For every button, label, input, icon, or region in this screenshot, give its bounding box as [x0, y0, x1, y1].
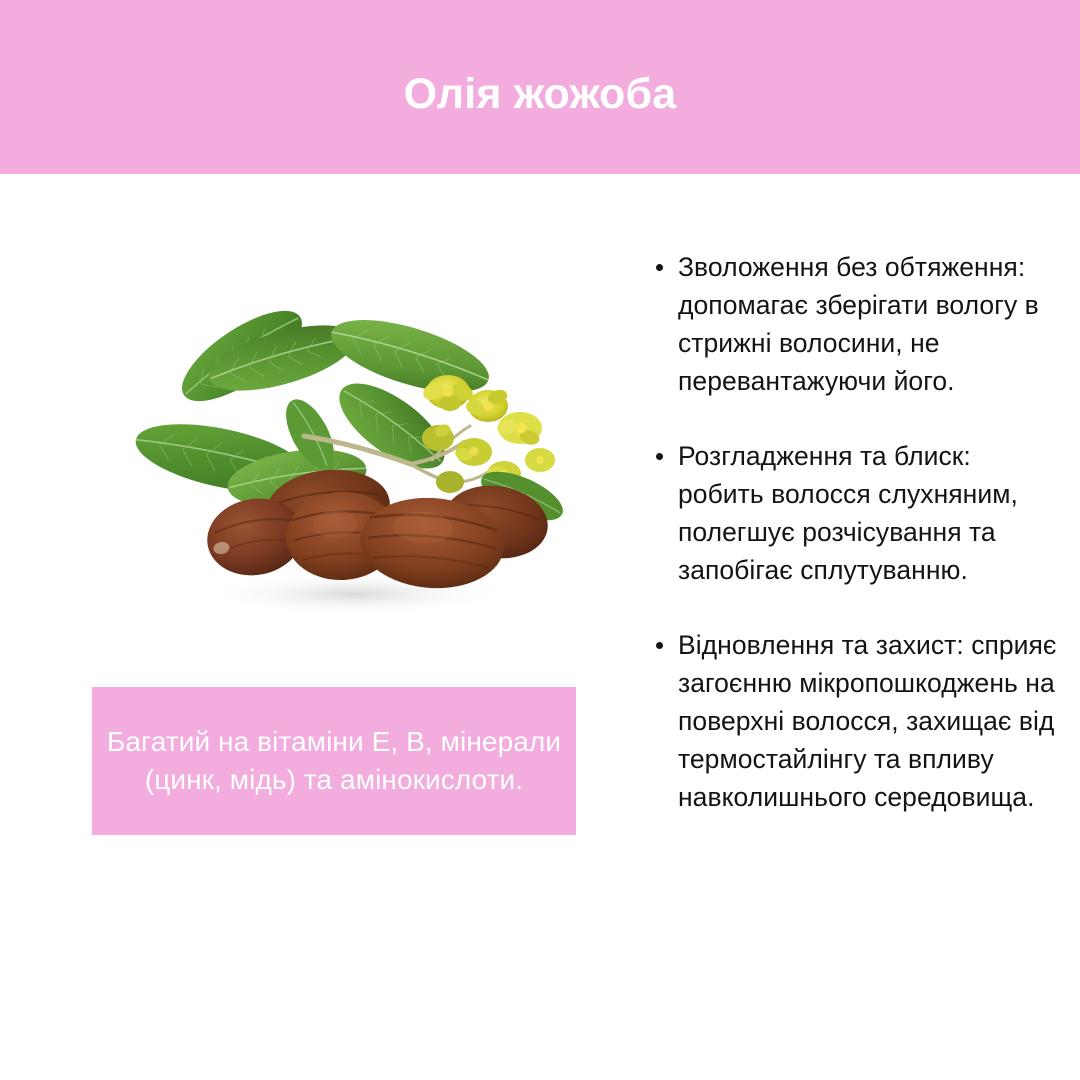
bullet-dot-icon [656, 453, 663, 460]
page-title: Олія жожоба [404, 73, 677, 116]
jojoba-plant-photo [92, 246, 582, 646]
highlight-caption-text: Багатий на вітаміни Е, В, мінерали (цинк… [106, 723, 562, 799]
highlight-caption-box: Багатий на вітаміни Е, В, мінерали (цинк… [92, 687, 576, 835]
benefit-text: Зволоження без обтяження: допомагає збер… [678, 252, 1039, 396]
bullet-dot-icon [656, 642, 663, 649]
list-item: Відновлення та захист: сприяє загоєнню м… [640, 626, 1060, 816]
content-area: Багатий на вітаміни Е, В, мінерали (цинк… [0, 174, 1080, 1080]
header-band: Олія жожоба [0, 0, 1080, 174]
left-column: Багатий на вітаміни Е, В, мінерали (цинк… [0, 174, 620, 1080]
benefit-text: Відновлення та захист: сприяє загоєнню м… [678, 630, 1057, 812]
bullet-dot-icon [656, 264, 663, 271]
benefits-list: Зволоження без обтяження: допомагає збер… [640, 248, 1060, 816]
slide-root: Олія жожоба [0, 0, 1080, 1080]
plant-illustration [92, 246, 582, 646]
benefit-text: Розгладження та блиск: робить волосся сл… [678, 441, 1018, 585]
right-column: Зволоження без обтяження: допомагає збер… [640, 174, 1060, 1080]
list-item: Зволоження без обтяження: допомагає збер… [640, 248, 1060, 400]
list-item: Розгладження та блиск: робить волосся сл… [640, 437, 1060, 589]
